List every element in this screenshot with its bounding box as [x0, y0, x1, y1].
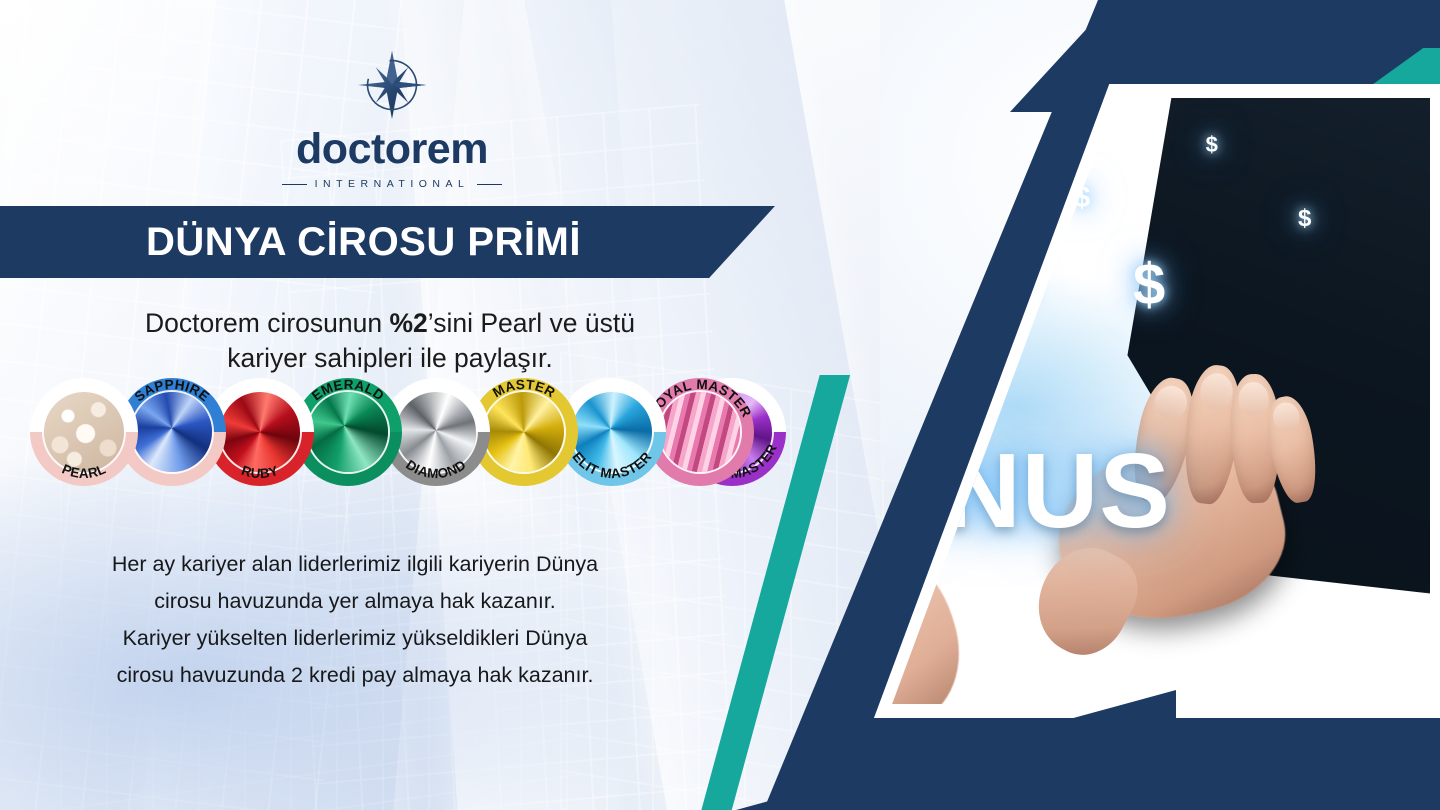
gem-texture [396, 392, 476, 472]
dollar-sign-icon: $ [1133, 256, 1165, 314]
page-title: DÜNYA CİROSU PRİMİ [146, 220, 581, 265]
dollar-sign-icon: $ [1206, 134, 1218, 156]
compass-star-icon [355, 48, 429, 122]
emerald-gem [308, 392, 388, 472]
gem-texture [132, 392, 212, 472]
ruby-gem [220, 392, 300, 472]
body-line: Her ay kariyer alan liderlerimiz ilgili … [30, 546, 680, 583]
fingernail [1271, 401, 1302, 433]
subtitle-line2: kariyer sahipleri ile paylaşır. [227, 343, 553, 373]
body-line: Kariyer yükselten liderlerimiz yükseldik… [30, 620, 680, 657]
title-banner: DÜNYA CİROSU PRİMİ [0, 206, 775, 278]
subtitle-after: ’sini Pearl ve üstü [428, 308, 635, 338]
logo-tagline-text: INTERNATIONAL [315, 178, 470, 190]
fingernail [1152, 383, 1190, 422]
body-line: cirosu havuzunda 2 kredi pay almaya hak … [30, 657, 680, 694]
fingernail [1239, 381, 1270, 416]
subtitle: Doctorem cirosunun %2’sini Pearl ve üstü… [40, 306, 740, 376]
fingernail [1198, 372, 1234, 411]
logo-rule-right [477, 184, 502, 185]
gem-texture [484, 392, 564, 472]
rank-badge-pearl[interactable]: PEARL [30, 378, 138, 486]
subtitle-before: Doctorem cirosunun [145, 308, 390, 338]
gem-texture [220, 392, 300, 472]
body-paragraph: Her ay kariyer alan liderlerimiz ilgili … [30, 546, 680, 694]
sapphire-gem [132, 392, 212, 472]
diamond-gem [396, 392, 476, 472]
elit-master-gem [572, 392, 652, 472]
logo-rule-left [282, 184, 307, 185]
body-line: cirosu havuzunda yer almaya hak kazanır. [30, 583, 680, 620]
gem-texture [660, 392, 740, 472]
brand-logo: doctorem INTERNATIONAL [282, 48, 502, 190]
gem-texture [44, 392, 124, 472]
gem-texture [308, 392, 388, 472]
gem-texture [572, 392, 652, 472]
royal-master-gem [660, 392, 740, 472]
logo-tagline: INTERNATIONAL [282, 178, 502, 190]
dollar-sign-icon: $ [1298, 207, 1311, 231]
pearl-gem [44, 392, 124, 472]
logo-wordmark: doctorem [282, 128, 502, 171]
subtitle-highlight: %2 [389, 308, 427, 338]
master-gem [484, 392, 564, 472]
rank-badge-row: PEARLSAPPHIRERUBYEMERALDDIAMONDMASTERELI… [30, 378, 770, 488]
